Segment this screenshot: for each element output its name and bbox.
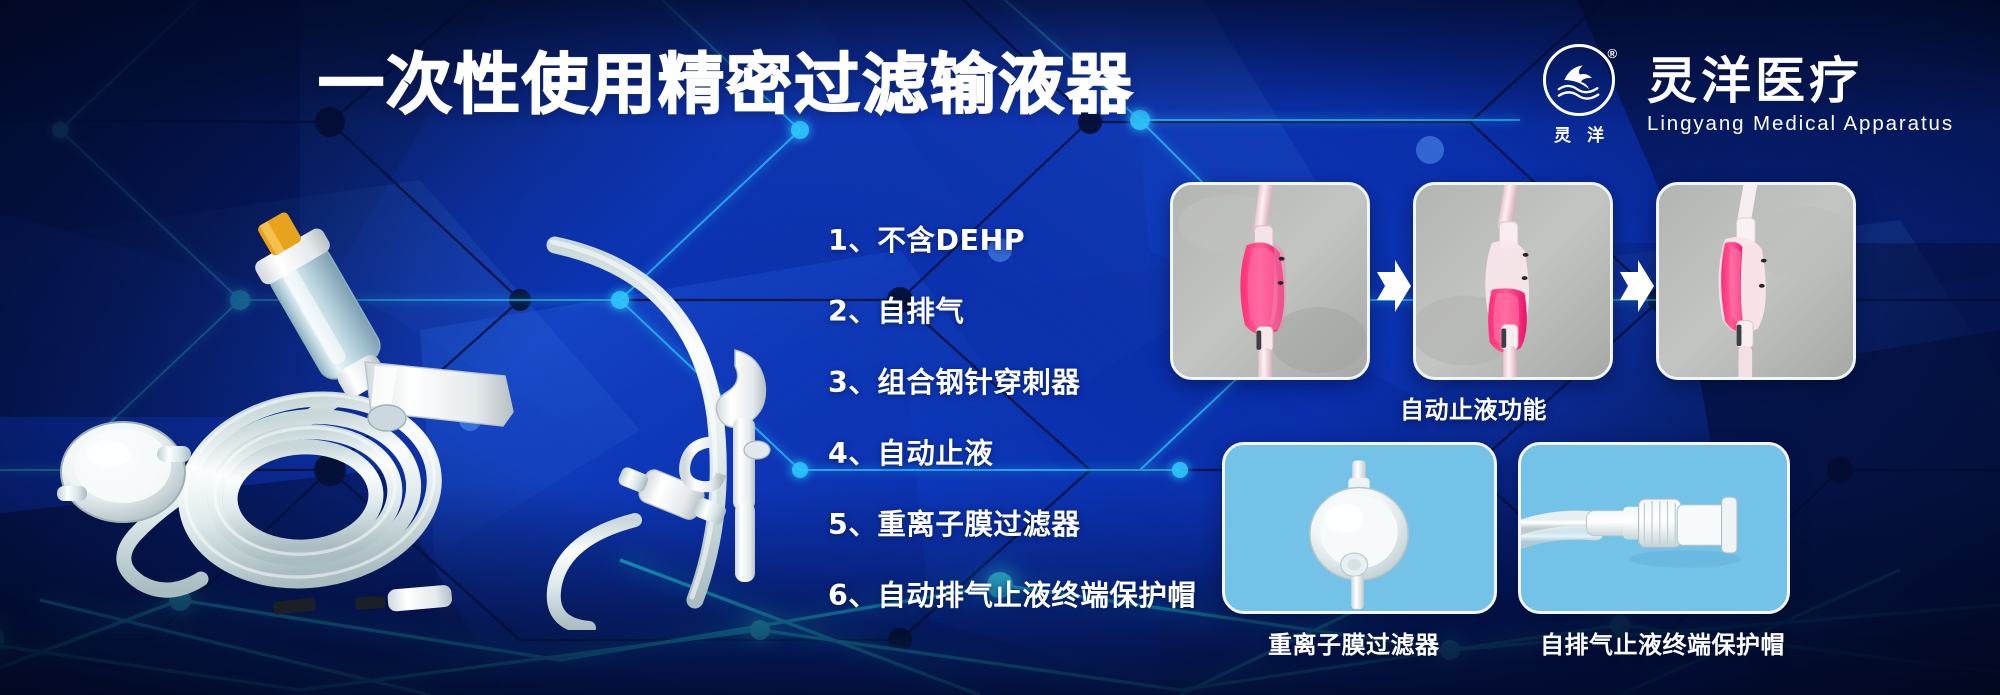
brand-logo: ® 灵洋 灵洋医疗 Lingyang Medical Apparatus xyxy=(1531,44,1954,146)
stop-valve-photo-draining xyxy=(1416,185,1610,377)
registered-mark-icon: ® xyxy=(1607,46,1617,61)
feature-item-4: 4、自动止液 xyxy=(828,431,1196,472)
feature-item-2: 2、自排气 xyxy=(828,289,1196,330)
product-photo xyxy=(35,150,825,630)
stop-valve-photo-closed xyxy=(1659,185,1853,377)
caption-ion-membrane-filter: 重离子膜过滤器 xyxy=(1268,625,1440,660)
sequence-arrow-1-icon xyxy=(1371,258,1415,314)
sequence-tile-3 xyxy=(1656,182,1856,380)
brand-seal-icon xyxy=(1543,44,1615,116)
product-banner: 一次性使用精密过滤输液器 ® 灵洋 灵洋医疗 Lingya xyxy=(0,0,2000,695)
feature-item-1: 1、不含DEHP xyxy=(828,218,1196,259)
brand-seal-block: ® 灵洋 xyxy=(1531,44,1627,146)
caption-auto-stop: 自动止液功能 xyxy=(1400,390,1547,425)
brand-seal-wrap: ® xyxy=(1543,44,1615,116)
infusion-set-illustration xyxy=(35,150,825,630)
feature-list: 1、不含DEHP 2、自排气 3、组合钢针穿刺器 4、自动止液 5、重离子膜过滤… xyxy=(828,218,1196,614)
sequence-tile-1 xyxy=(1170,182,1370,380)
sequence-tile-2 xyxy=(1413,182,1613,380)
roller-clamp-part xyxy=(365,362,513,431)
seal-graphic-icon xyxy=(1546,47,1612,113)
tube-clamp-part xyxy=(273,598,316,615)
sequence-arrow-2-icon xyxy=(1614,258,1658,314)
feature-item-6: 6、自动排气止液终端保护帽 xyxy=(828,573,1196,614)
inline-part xyxy=(387,584,453,611)
stop-valve-photo-full xyxy=(1173,185,1367,377)
feature-item-3: 3、组合钢针穿刺器 xyxy=(828,360,1196,401)
banner-title: 一次性使用精密过滤输液器 xyxy=(318,52,1134,118)
brand-seal-caption: 灵洋 xyxy=(1538,121,1620,146)
caption-terminal-cap: 自排气止液终端保护帽 xyxy=(1540,625,1785,660)
component-tile-cap xyxy=(1518,442,1790,614)
tube-clamp-part xyxy=(355,596,386,610)
terminal-protection-cap-photo xyxy=(1521,445,1787,611)
feature-item-5: 5、重离子膜过滤器 xyxy=(828,502,1196,543)
brand-name-cn: 灵洋医疗 xyxy=(1647,55,1954,108)
ion-membrane-filter-photo xyxy=(1225,445,1494,611)
needle-assembly-part xyxy=(685,350,770,582)
brand-name-en: Lingyang Medical Apparatus xyxy=(1647,112,1954,136)
component-tile-filter xyxy=(1222,442,1497,614)
brand-wordmark: 灵洋医疗 Lingyang Medical Apparatus xyxy=(1647,55,1954,136)
